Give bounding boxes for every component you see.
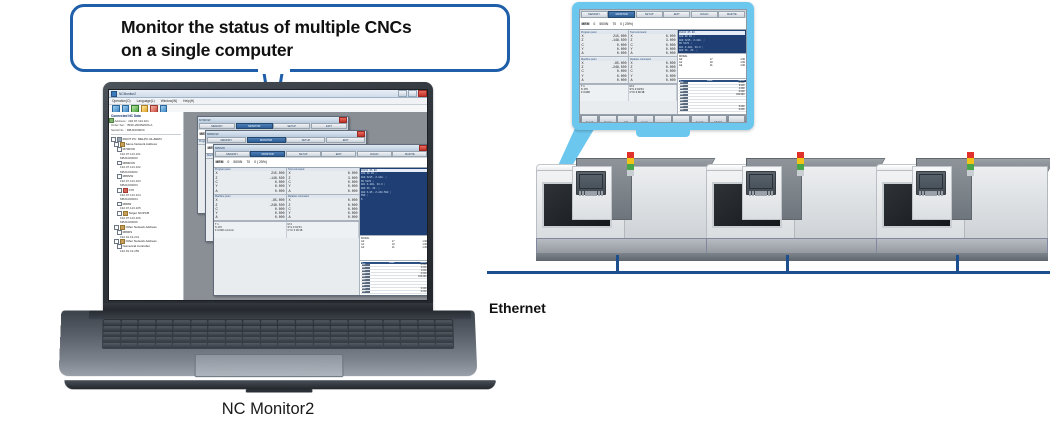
keyboard-key[interactable] — [401, 320, 418, 325]
nc3-speed: 70 — [246, 160, 250, 164]
nc3-feed: 500IN — [233, 160, 242, 164]
relative-command-axis: A — [289, 215, 297, 219]
m2-body — [794, 166, 878, 242]
keyboard-key[interactable] — [191, 337, 208, 342]
keyboard-key[interactable] — [103, 326, 120, 331]
laptop-caption: NC Monitor2 — [48, 400, 488, 419]
keyboard-key[interactable] — [226, 337, 243, 342]
nc-device-tree[interactable]: -ROOT PC: MELPC-01-ZERO-Same Network Add… — [111, 137, 181, 253]
zoom-command-key: 103 — [680, 91, 688, 93]
zoom-machine-posn-value: 0.000 — [590, 78, 627, 82]
nc3-tab-mainte[interactable]: MAINTE — [392, 151, 427, 157]
program-posn-row: A0.000 — [214, 189, 286, 193]
zoom-program-posn-row: A0.000 — [580, 51, 628, 55]
keyboard-key[interactable] — [366, 326, 383, 331]
keyboard-key[interactable] — [419, 332, 436, 337]
nc3-cyc-label: CYC — [288, 229, 293, 232]
zoom-cyc-label: CYC — [630, 91, 635, 94]
nc3-side-area: O1234 N5 B6 G28 X0 Z0 ;G00 X215. Z-148. … — [359, 168, 428, 296]
keyboard-key[interactable] — [121, 332, 138, 337]
keyboard-key[interactable] — [313, 320, 330, 325]
diagram-stage: Monitor the status of multiple CNCs on a… — [0, 0, 1050, 430]
keyboard-key[interactable] — [436, 332, 453, 337]
zoom-tool-command-value: 0.000 — [639, 51, 676, 55]
m2-panel-screen — [749, 174, 773, 189]
zoom-program-posn: Program posn X215.000Z-148.500C0.000Y0.0… — [580, 30, 628, 57]
keyboard-key[interactable] — [139, 320, 156, 325]
keyboard-key[interactable] — [261, 320, 277, 325]
m1-panel-screen — [579, 174, 603, 189]
laptop-screen: NCMonitor2 Operation(O) Language(L) Wind… — [108, 89, 428, 301]
machine-posn-axis: A — [216, 215, 224, 219]
nc3-tab-diagn[interactable]: DIAGN — [357, 151, 392, 157]
zoom-cyc-value: 0 00:18 — [636, 91, 645, 94]
keyboard-key[interactable] — [261, 343, 278, 348]
zoom-tool-block: T 1 S 170 F 0.000 — [580, 85, 629, 101]
keyboard-key[interactable] — [366, 337, 383, 342]
keyboard-key[interactable] — [120, 343, 137, 348]
keyboard-key[interactable] — [348, 326, 365, 331]
machine-posn-value: 0.000 — [224, 215, 285, 219]
keyboard-key[interactable] — [104, 320, 121, 325]
keyboard-key[interactable] — [384, 332, 401, 337]
app-menubar: Operation(O) Language(L) Window(W) Help(… — [109, 98, 428, 105]
nc3-tab-monitor[interactable]: MONITOR — [250, 151, 285, 157]
zoomed-nc-inner: MEMORY MONITOR SETUP EDIT DIAGN MAINTE M… — [579, 9, 747, 123]
keyboard-key[interactable] — [436, 337, 453, 342]
keyboard-key[interactable] — [314, 337, 331, 342]
keyboard-key[interactable] — [261, 332, 278, 337]
nc3-command-key: 107 — [362, 285, 370, 287]
field-serial-key: Serial No. : — [111, 128, 126, 132]
nc-icon — [109, 118, 114, 123]
keyboard-key[interactable] — [313, 332, 330, 337]
keyboard-key[interactable] — [138, 337, 155, 342]
keyboard-key[interactable] — [243, 320, 259, 325]
m3-plinth-shadow — [876, 253, 1048, 261]
keyboard-key[interactable] — [278, 326, 295, 331]
zoom-tool-command: Tool command X6.000Z3.000C0.000Y0.000A0.… — [628, 30, 677, 57]
nc3-tool-command: Tool command X6.000Z3.000C0.000Y0.000A0.… — [286, 168, 359, 195]
keyboard-key[interactable] — [191, 332, 208, 337]
nc3-program-view[interactable]: O1234 N5 B6 G28 X0 Z0 ;G00 X215. Z-148. … — [360, 168, 428, 236]
app-body: Connected NC Data IP Address : 192.97.11… — [109, 112, 428, 301]
m3-panel-screen — [919, 174, 943, 189]
keyboard-key[interactable] — [261, 326, 278, 331]
keyboard-key[interactable] — [278, 343, 295, 348]
m3-panel-keys[interactable] — [919, 191, 943, 196]
ethernet-bus-line — [487, 271, 1050, 274]
zoom-relative-command-axis: A — [631, 78, 639, 82]
relative-command-row: A0.000 — [287, 215, 359, 219]
m3-signal-tower — [967, 152, 974, 176]
nc3-relative-command: Relative command X0.000Z0.000C0.000Y0.00… — [286, 195, 359, 222]
nc2-tabs: MEMORY MONITOR SETUP EDIT — [206, 137, 366, 144]
zoom-machine-posn-axis: A — [582, 78, 590, 82]
zoom-timer-block: M 3 STL 0 01:54 CYC 0 00:18 — [629, 85, 678, 101]
callout-balloon: Monitor the status of multiple CNCs on a… — [70, 4, 510, 72]
keyboard-key[interactable] — [121, 320, 138, 325]
keyboard-key[interactable] — [349, 337, 366, 342]
zoom-position-area: Program posn X215.000Z-148.500C0.000Y0.0… — [580, 30, 677, 114]
nc3-command-row: 1090.000 — [361, 291, 428, 294]
zoom-row-lower: Machine posn X-85.000Z-248.500C0.000Y0.0… — [580, 57, 677, 84]
m1-control-panel[interactable] — [576, 171, 606, 195]
keyboard-key[interactable] — [156, 337, 173, 342]
nc3-timer-block: M 3 STL 0 01:54 CYC 0 00:18 — [287, 222, 360, 238]
keyboard-key[interactable] — [191, 343, 208, 348]
zoom-tab-memory[interactable]: MEMORY — [581, 11, 608, 18]
nc-window-2-title: M800VW — [207, 132, 219, 136]
keyboard-key[interactable] — [173, 337, 190, 342]
nc3-modal-v: 21 — [392, 246, 395, 249]
nc3-modal-w: 1.00 — [422, 246, 427, 249]
keyboard-key[interactable] — [366, 332, 383, 337]
keyboard-key[interactable] — [278, 337, 295, 342]
minimize-button[interactable] — [398, 90, 407, 97]
zoom-bottom-info: T 1 S 170 F 0.000 M 3 STL — [580, 84, 677, 101]
zoom-command-key: 105 — [680, 97, 688, 99]
callout-tail-mask — [258, 64, 290, 74]
keyboard-key[interactable] — [138, 332, 155, 337]
menu-window[interactable]: Window(W) — [161, 99, 177, 103]
nc1-tabs: MEMORY MONITOR SETUP EDIT — [198, 123, 348, 130]
keyboard-key[interactable] — [348, 320, 365, 325]
nc3-command-key: 109 — [362, 291, 370, 293]
field-serial-no: Serial No. : MBJ1000000 — [111, 128, 181, 132]
keyboard-key[interactable] — [156, 320, 173, 325]
zoom-program-view[interactable]: O1234 N5 B6 G28 X0 Z0 ;G00 X215. Z-148. … — [678, 30, 746, 53]
keyboard-key[interactable] — [418, 326, 435, 331]
nc3-program-posn: Program posn X215.000Z-148.500C0.000Y0.0… — [214, 168, 286, 195]
panel-divider — [111, 134, 181, 135]
app-title-text: NCMonitor2 — [119, 92, 136, 96]
nc3-command-key: 104 — [362, 276, 370, 278]
nc1-tab-setup[interactable]: SETUP — [273, 123, 310, 129]
nc3-program-line: % — [361, 198, 427, 202]
zoom-feed: 500IN — [599, 22, 608, 26]
laptop-deck — [59, 310, 478, 376]
connected-nc-panel: Connected NC Data IP Address : 192.97.11… — [109, 112, 184, 301]
m1-tower-pole — [627, 170, 634, 176]
zoom-modal-info: MODAL G0171.00G1191.00G2211.00 — [678, 53, 746, 78]
keyboard-key[interactable] — [226, 326, 243, 331]
keyboard-key[interactable] — [278, 332, 295, 337]
keyboard-key[interactable] — [156, 332, 173, 337]
keyboard-key[interactable] — [419, 337, 436, 342]
zoom-command-key: 100 — [680, 82, 688, 84]
zoom-relative-command-row: A0.000 — [629, 78, 677, 82]
keyboard-key[interactable] — [173, 343, 190, 348]
zoom-softkey[interactable]: EXACT — [709, 115, 727, 123]
keyboard-key[interactable] — [226, 320, 243, 325]
maximize-button[interactable] — [408, 90, 417, 97]
nc-window-3-content: MEMORY MONITOR SETUP EDIT DIAGN MAINTE M… — [214, 151, 428, 296]
nc3-command-key: 106 — [362, 282, 370, 284]
keyboard-key[interactable] — [226, 343, 243, 348]
zoom-softkey[interactable]: Edit — [617, 115, 635, 123]
nc1-tab-monitor[interactable]: MONITOR — [236, 123, 273, 129]
zoom-machine-posn-row: A0.000 — [580, 78, 628, 82]
zoom-speed: 70 — [612, 22, 616, 26]
laptop-front-edge — [64, 380, 496, 389]
keyboard-key[interactable] — [103, 343, 120, 348]
app-titlebar: NCMonitor2 — [109, 90, 428, 98]
zoom-feed-value: 0.000 — [583, 91, 590, 94]
close-button[interactable] — [418, 90, 427, 97]
keyboard-key[interactable] — [121, 326, 138, 331]
tree-node[interactable]: 192.91.19.250 — [111, 249, 181, 254]
zoom-main: Program posn X215.000Z-148.500C0.000Y0.0… — [580, 30, 746, 114]
nc1-tab-edit[interactable]: EDIT — [311, 123, 348, 129]
zoom-command-key: 106 — [680, 100, 688, 102]
keyboard-key[interactable] — [208, 343, 225, 348]
nc3-command-key: 101 — [362, 267, 370, 269]
keyboard-key[interactable] — [401, 332, 418, 337]
zoom-nc-content: MEMORY MONITOR SETUP EDIT DIAGN MAINTE M… — [580, 10, 746, 122]
keyboard-key[interactable] — [313, 326, 330, 331]
m2-panel-keys[interactable] — [749, 191, 773, 196]
laptop-keyboard[interactable] — [102, 319, 454, 349]
nc3-modal-info: MODAL G0171.00G1191.00G2211.00 — [360, 235, 428, 260]
popup-stand — [636, 129, 690, 137]
keyboard-key[interactable] — [384, 343, 401, 348]
zoom-command-key: 108 — [680, 106, 688, 108]
zoom-relative-command-value: 0.000 — [639, 78, 676, 82]
keyboard-key[interactable] — [296, 320, 313, 325]
nc3-modal-k: G2 — [361, 246, 364, 249]
callout-line-2: on a single computer — [121, 39, 501, 62]
zoom-tab-edit[interactable]: EDIT — [663, 11, 690, 18]
nc3-command-value: 1.000 — [421, 270, 427, 272]
zoom-command-value: 3.000 — [739, 85, 745, 87]
keyboard-key[interactable] — [208, 332, 225, 337]
zoom-tab-mainte[interactable]: MAINTE — [718, 11, 745, 18]
zoom-command-value: 1.000 — [739, 88, 745, 90]
zoom-command-value: 0.000 — [739, 91, 745, 93]
zoom-softkey[interactable]: Search — [691, 115, 709, 123]
zoom-tool-command-row: A0.000 — [629, 51, 677, 55]
laptop-base — [48, 304, 488, 392]
keyboard-key[interactable] — [173, 332, 190, 337]
keyboard-key[interactable] — [436, 326, 453, 331]
keyboard-key[interactable] — [191, 326, 208, 331]
menu-operation[interactable]: Operation(O) — [112, 99, 131, 103]
keyboard-key[interactable] — [419, 343, 436, 348]
tool-command-value: 0.000 — [297, 189, 358, 193]
nc3-command-key: 100 — [362, 264, 370, 266]
nc3-tabs: MEMORY MONITOR SETUP EDIT DIAGN MAINTE — [214, 151, 428, 158]
program-posn-axis: A — [216, 189, 224, 193]
keyboard-key[interactable] — [209, 320, 226, 325]
m1-signal-tower — [627, 152, 634, 176]
nc2-tab-setup[interactable]: SETUP — [286, 137, 325, 143]
zoom-override: 0 ( 25%) — [620, 22, 633, 26]
nc3-line-no: 0 — [227, 160, 229, 164]
keyboard-key[interactable] — [296, 337, 313, 342]
nc-window-1-title: M700VW — [199, 118, 211, 122]
nc3-machine-posn: Machine posn X-85.000Z-248.500C0.000Y0.0… — [214, 195, 286, 222]
keyboard-key[interactable] — [174, 320, 191, 325]
keyboard-key[interactable] — [278, 320, 295, 325]
nc-window-3[interactable]: M80VW MEMORY MONITOR SETUP EDIT DIAGN — [213, 144, 428, 296]
keyboard-key[interactable] — [348, 332, 365, 337]
keyboard-key[interactable] — [243, 326, 260, 331]
zoom-mode: MEM — [582, 22, 590, 26]
zoom-softkey-bar: SearchRestartEditCoordBufMconSearchEXACT… — [580, 114, 746, 123]
zoom-softkey[interactable]: Restart — [599, 115, 617, 123]
m1-body — [624, 166, 708, 242]
m1-plinth-shadow — [536, 253, 708, 261]
keyboard-key[interactable] — [331, 343, 348, 348]
keyboard-key[interactable] — [401, 343, 418, 348]
nc3-cyc-value: 0 00:18 — [294, 229, 303, 232]
zoom-tabs: MEMORY MONITOR SETUP EDIT DIAGN MAINTE — [580, 10, 746, 18]
nc3-command-key: 102 — [362, 270, 370, 272]
callout-line-1: Monitor the status of multiple CNCs — [121, 16, 501, 39]
nc3-main: Program posn X215.000Z-148.500C0.000Y0.0… — [214, 168, 428, 296]
cnc-machine-1 — [528, 152, 716, 272]
zoom-softkey[interactable]: Buf — [654, 115, 672, 123]
keyboard-key[interactable] — [436, 343, 453, 348]
laptop-hinge — [89, 310, 471, 319]
nc3-command-value: 0.000 — [421, 288, 427, 290]
nc3-tab-memory[interactable]: MEMORY — [215, 151, 250, 157]
keyboard-key[interactable] — [103, 332, 120, 337]
m3-tower-pole — [967, 170, 974, 176]
keyboard-key[interactable] — [173, 326, 190, 331]
keyboard-key[interactable] — [383, 320, 400, 325]
m1-panel-keys[interactable] — [579, 191, 603, 196]
nc3-col-val: Value — [389, 262, 395, 264]
keyboard-key[interactable] — [384, 337, 401, 342]
nc3-tab-edit[interactable]: EDIT — [321, 151, 356, 157]
keyboard-key[interactable] — [243, 337, 260, 342]
zoomed-nc-screen: MEMORY MONITOR SETUP EDIT DIAGN MAINTE M… — [572, 2, 754, 130]
nc3-command-value: 0.000 — [421, 273, 427, 275]
zoom-line-no: 0 — [593, 22, 595, 26]
keyboard-key[interactable] — [366, 320, 383, 325]
keyboard-key[interactable] — [401, 326, 418, 331]
nc1-tab-memory[interactable]: MEMORY — [199, 123, 236, 129]
menu-help[interactable]: Help(H) — [183, 99, 194, 103]
zoom-tab-monitor[interactable]: MONITOR — [608, 11, 635, 18]
nc3-tool-block: T 1 S 170 F 0.000 — [214, 222, 287, 238]
zoom-command-key: 104 — [680, 94, 688, 96]
keyboard-key[interactable] — [243, 343, 260, 348]
keyboard-key[interactable] — [331, 320, 348, 325]
keyboard-row — [103, 337, 453, 342]
keyboard-key[interactable] — [243, 332, 260, 337]
zoom-program-posn-value: 0.000 — [590, 51, 627, 55]
keyboard-key[interactable] — [103, 337, 120, 342]
zoom-tool-command-axis: A — [631, 51, 639, 55]
keyboard-key[interactable] — [349, 343, 366, 348]
cnc-machine-3 — [868, 152, 1050, 272]
field-serial-value: MBJ1000000 — [127, 128, 145, 132]
keyboard-key[interactable] — [331, 332, 348, 337]
zoom-program-posn-axis: A — [582, 51, 590, 55]
nc2-tab-memory[interactable]: MEMORY — [207, 137, 246, 143]
m3-control-panel[interactable] — [916, 171, 946, 195]
keyboard-key[interactable] — [314, 343, 331, 348]
window-controls — [398, 90, 427, 97]
keyboard-key[interactable] — [296, 326, 313, 331]
nc3-feed-unit: mm/min — [225, 229, 234, 232]
keyboard-key[interactable] — [208, 337, 225, 342]
zoom-modal-v: 21 — [710, 64, 713, 67]
nc3-command-key: 108 — [362, 288, 370, 290]
keyboard-key[interactable] — [121, 337, 138, 342]
keyboard-key[interactable] — [156, 343, 173, 348]
keyboard-key[interactable] — [156, 326, 173, 331]
keyboard-key[interactable] — [138, 343, 155, 348]
keyboard-key[interactable] — [226, 332, 243, 337]
cnc-machine-2 — [698, 152, 886, 272]
nc2-tab-monitor[interactable]: MONITOR — [247, 137, 286, 143]
zoom-command-key: 107 — [680, 103, 688, 105]
laptop-lid: NCMonitor2 Operation(O) Language(L) Wind… — [103, 82, 433, 314]
tree-expander-icon[interactable]: - — [111, 137, 116, 142]
m2-control-panel[interactable] — [746, 171, 776, 195]
zoom-softkey[interactable]: Mcon — [672, 115, 690, 123]
menu-language[interactable]: Language(L) — [137, 99, 155, 103]
zoom-modal-row: G2211.00 — [679, 64, 745, 67]
keyboard-key[interactable] — [296, 343, 313, 348]
zoom-softkey[interactable]: Coord — [636, 115, 654, 123]
laptop-trackpad[interactable] — [194, 354, 343, 377]
keyboard-key[interactable] — [138, 326, 155, 331]
relative-command-value: 0.000 — [297, 215, 358, 219]
keyboard-key[interactable] — [383, 326, 400, 331]
nc3-feed-value: 0.000 — [217, 229, 224, 232]
nc2-tab-edit[interactable]: EDIT — [326, 137, 365, 143]
zoom-command-table[interactable]: # Value Name 100-1.0001013.0001021.00010… — [678, 78, 746, 114]
zoom-row-upper: Program posn X215.000Z-148.500C0.000Y0.0… — [580, 30, 677, 57]
zoom-relative-command: Relative command X0.000Z0.000C0.000Y0.00… — [628, 57, 677, 84]
keyboard-key[interactable] — [418, 320, 435, 325]
machine-posn-row: A0.000 — [214, 215, 286, 219]
nc-window-3-title: M80VW — [215, 146, 225, 150]
zoom-tab-diagn[interactable]: DIAGN — [691, 11, 718, 18]
zoom-softkey[interactable]: Mcn Op — [728, 115, 746, 123]
keyboard-row — [103, 343, 453, 348]
keyboard-key[interactable] — [331, 337, 348, 342]
keyboard-key[interactable] — [331, 326, 348, 331]
keyboard-key[interactable] — [366, 343, 383, 348]
keyboard-key[interactable] — [296, 332, 313, 337]
nc3-tab-setup[interactable]: SETUP — [286, 151, 321, 157]
nc3-bottom-info: T 1 S 170 F 0.000 — [214, 221, 359, 238]
nc3-command-table[interactable]: # Value Name 100-1.0001013.0001021.00010… — [360, 260, 428, 296]
keyboard-key[interactable] — [401, 337, 418, 342]
trackpad-button[interactable] — [246, 389, 313, 392]
nc3-command-key: 105 — [362, 279, 370, 281]
zoom-softkey[interactable]: Search — [581, 115, 599, 123]
keyboard-key[interactable] — [208, 326, 225, 331]
zoom-tab-setup[interactable]: SETUP — [636, 11, 663, 18]
keyboard-key[interactable] — [261, 337, 278, 342]
zoom-command-value: 0.000 — [739, 109, 745, 111]
keyboard-row — [103, 332, 453, 337]
nc3-command-value: -1.000 — [420, 264, 427, 266]
zoom-modal-w: 1.00 — [740, 64, 745, 67]
keyboard-key[interactable] — [191, 320, 208, 325]
zoom-side-area: O1234 N5 B6 G28 X0 Z0 ;G00 X215. Z-148. … — [677, 30, 746, 114]
keyboard-key[interactable] — [436, 320, 453, 325]
nc3-row-lower: Machine posn X-85.000Z-248.500C0.000Y0.0… — [214, 195, 359, 222]
zoom-command-value: 100.000 — [736, 94, 744, 96]
